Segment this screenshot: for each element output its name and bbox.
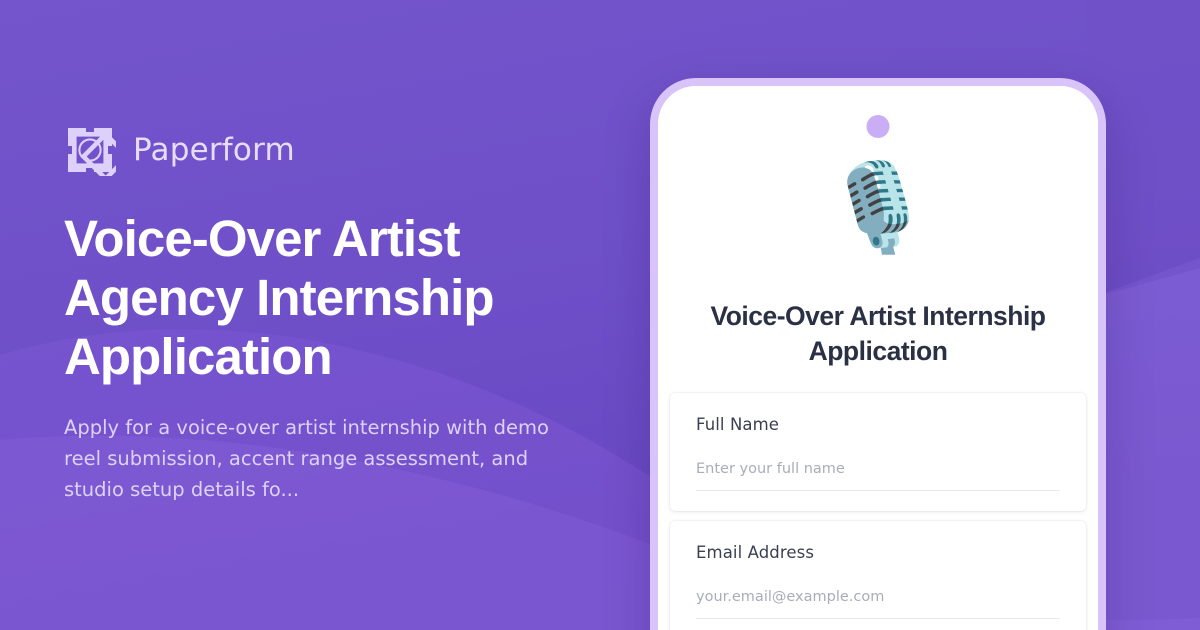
- brand-name: Paperform: [133, 132, 295, 168]
- field-full-name[interactable]: Full Name Enter your full name: [670, 393, 1086, 511]
- phone-screen: 🎙️ Voice-Over Artist Internship Applicat…: [658, 86, 1098, 630]
- full-name-input[interactable]: Enter your full name: [696, 461, 1060, 491]
- hero-content: Paperform Voice-Over Artist Agency Inter…: [64, 0, 624, 630]
- camera-dot-icon: [867, 115, 890, 138]
- form-title: Voice-Over Artist Internship Application: [658, 299, 1098, 369]
- field-label: Email Address: [696, 543, 1060, 562]
- paperform-logo-icon: [64, 124, 116, 176]
- phone-mockup: 🎙️ Voice-Over Artist Internship Applicat…: [650, 78, 1106, 630]
- studio-microphone-icon: 🎙️: [819, 149, 937, 267]
- field-email-address[interactable]: Email Address your.email@example.com: [670, 521, 1086, 630]
- page-description: Apply for a voice-over artist internship…: [64, 413, 574, 505]
- email-address-input[interactable]: your.email@example.com: [696, 589, 1060, 619]
- page-title: Voice-Over Artist Agency Internship Appl…: [64, 210, 584, 387]
- brand-lockup: Paperform: [64, 124, 624, 176]
- form-fields: Full Name Enter your full name Email Add…: [658, 393, 1098, 630]
- field-label: Full Name: [696, 415, 1060, 434]
